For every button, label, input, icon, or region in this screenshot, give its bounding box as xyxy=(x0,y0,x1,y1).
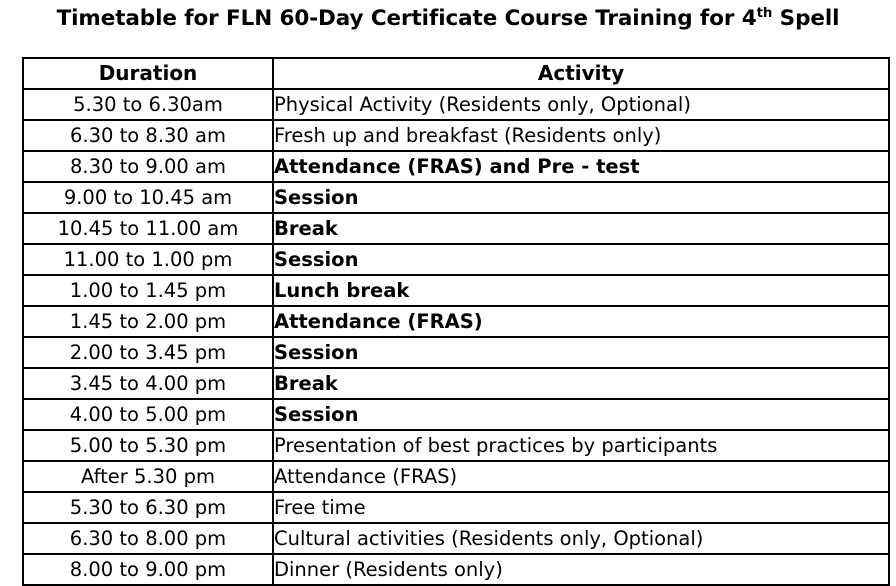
column-header-duration: Duration xyxy=(23,58,273,89)
cell-activity: Attendance (FRAS) and Pre - test xyxy=(273,151,889,182)
table-row: 9.00 to 10.45 amSession xyxy=(23,182,889,213)
table-row: 4.00 to 5.00 pmSession xyxy=(23,399,889,430)
cell-duration: 2.00 to 3.45 pm xyxy=(23,337,273,368)
cell-duration: 8.00 to 9.00 pm xyxy=(23,554,273,585)
cell-duration: 5.30 to 6.30am xyxy=(23,89,273,120)
table-header-row: Duration Activity xyxy=(23,58,889,89)
table-row: After 5.30 pmAttendance (FRAS) xyxy=(23,461,889,492)
cell-duration: 5.30 to 6.30 pm xyxy=(23,492,273,523)
table-row: 6.30 to 8.30 amFresh up and breakfast (R… xyxy=(23,120,889,151)
cell-activity: Lunch break xyxy=(273,275,889,306)
timetable-header: Duration Activity xyxy=(23,58,889,89)
cell-duration: 8.30 to 9.00 am xyxy=(23,151,273,182)
cell-duration: 6.30 to 8.00 pm xyxy=(23,523,273,554)
cell-activity: Cultural activities (Residents only, Opt… xyxy=(273,523,889,554)
timetable: Duration Activity 5.30 to 6.30amPhysical… xyxy=(22,57,890,586)
cell-duration: 11.00 to 1.00 pm xyxy=(23,244,273,275)
cell-activity: Dinner (Residents only) xyxy=(273,554,889,585)
timetable-body: 5.30 to 6.30amPhysical Activity (Residen… xyxy=(23,89,889,585)
cell-duration: 1.00 to 1.45 pm xyxy=(23,275,273,306)
cell-activity: Presentation of best practices by partic… xyxy=(273,430,889,461)
table-row: 8.30 to 9.00 amAttendance (FRAS) and Pre… xyxy=(23,151,889,182)
table-row: 11.00 to 1.00 pmSession xyxy=(23,244,889,275)
table-row: 1.45 to 2.00 pmAttendance (FRAS) xyxy=(23,306,889,337)
document-page: Timetable for FLN 60-Day Certificate Cou… xyxy=(0,0,896,561)
table-row: 8.00 to 9.00 pmDinner (Residents only) xyxy=(23,554,889,585)
cell-activity: Attendance (FRAS) xyxy=(273,306,889,337)
cell-activity: Fresh up and breakfast (Residents only) xyxy=(273,120,889,151)
table-row: 5.30 to 6.30amPhysical Activity (Residen… xyxy=(23,89,889,120)
table-row: 3.45 to 4.00 pmBreak xyxy=(23,368,889,399)
cell-activity: Session xyxy=(273,182,889,213)
page-title-tail: Spell xyxy=(772,6,839,31)
cell-activity: Free time xyxy=(273,492,889,523)
table-row: 5.30 to 6.30 pmFree time xyxy=(23,492,889,523)
column-header-activity: Activity xyxy=(273,58,889,89)
cell-activity: Session xyxy=(273,337,889,368)
cell-duration: 6.30 to 8.30 am xyxy=(23,120,273,151)
cell-activity: Session xyxy=(273,244,889,275)
timetable-container: Duration Activity 5.30 to 6.30amPhysical… xyxy=(22,57,888,586)
cell-duration: 4.00 to 5.00 pm xyxy=(23,399,273,430)
cell-activity: Session xyxy=(273,399,889,430)
table-row: 6.30 to 8.00 pmCultural activities (Resi… xyxy=(23,523,889,554)
page-title-ordinal-suffix: th xyxy=(757,6,773,21)
cell-duration: 10.45 to 11.00 am xyxy=(23,213,273,244)
page-title: Timetable for FLN 60-Day Certificate Cou… xyxy=(0,6,896,31)
table-row: 5.00 to 5.30 pmPresentation of best prac… xyxy=(23,430,889,461)
table-row: 1.00 to 1.45 pmLunch break xyxy=(23,275,889,306)
cell-activity: Break xyxy=(273,368,889,399)
table-row: 10.45 to 11.00 amBreak xyxy=(23,213,889,244)
cell-duration: 9.00 to 10.45 am xyxy=(23,182,273,213)
cell-duration: After 5.30 pm xyxy=(23,461,273,492)
cell-activity: Attendance (FRAS) xyxy=(273,461,889,492)
cell-activity: Break xyxy=(273,213,889,244)
cell-duration: 5.00 to 5.30 pm xyxy=(23,430,273,461)
cell-duration: 1.45 to 2.00 pm xyxy=(23,306,273,337)
cell-duration: 3.45 to 4.00 pm xyxy=(23,368,273,399)
page-title-main: Timetable for FLN 60-Day Certificate Cou… xyxy=(57,6,757,31)
cell-activity: Physical Activity (Residents only, Optio… xyxy=(273,89,889,120)
table-row: 2.00 to 3.45 pmSession xyxy=(23,337,889,368)
